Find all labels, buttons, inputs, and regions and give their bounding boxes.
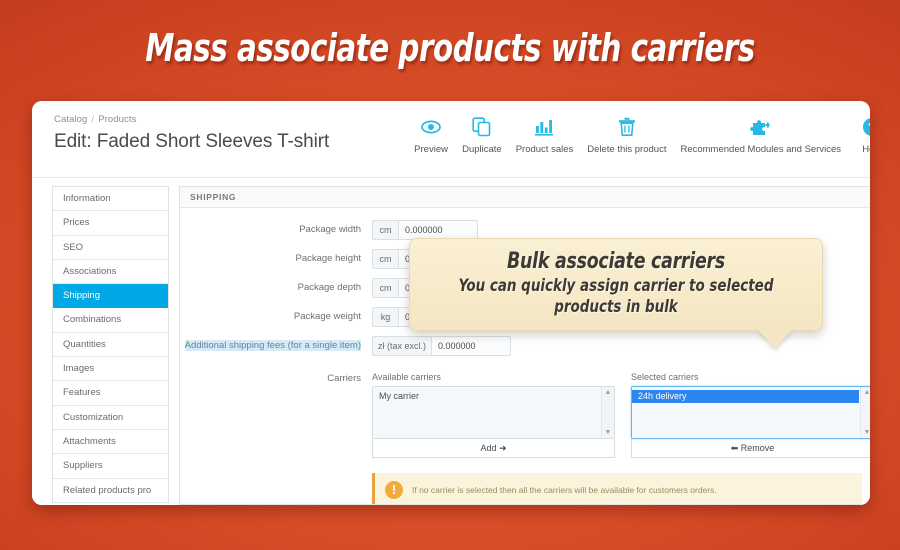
available-carrier-option[interactable]: My carrier (373, 390, 600, 403)
svg-text:?: ? (868, 120, 870, 135)
question-circle-icon: ? (862, 115, 870, 139)
screenshot-stage: Mass associate products with carriers Ca… (0, 0, 900, 550)
sidebar-item-customization[interactable]: Customization (53, 406, 168, 430)
input-package-width[interactable] (398, 220, 478, 240)
sidebar-item-label: Quantities (63, 339, 106, 350)
sidebar-item-quantities[interactable]: Quantities (53, 333, 168, 357)
toolbar-label-preview: Preview (414, 144, 448, 155)
exclamation-circle-icon: ! (385, 481, 403, 499)
toolbar-label-delete-product: Delete this product (587, 144, 666, 155)
form-label-package-width: Package width (180, 220, 372, 236)
sidebar-item-label: Suppliers (63, 460, 103, 471)
callout-tail (758, 330, 792, 348)
bar-chart-icon (534, 115, 554, 139)
available-carriers-listbox[interactable]: My carrier ▲ ▼ (372, 386, 615, 439)
breadcrumb-separator: / (91, 114, 94, 125)
panel-heading: SHIPPING (180, 187, 870, 208)
selected-carriers-column: Selected carriers 24h delivery ▲ ▼ ⬅ Rem… (631, 372, 870, 458)
carriers-row-label: Carriers (180, 372, 372, 458)
sidebar-item-information[interactable]: Information (53, 187, 168, 211)
input-group-package-width: cm (372, 220, 478, 240)
sidebar-item-label: SEO (63, 242, 83, 253)
toolbar-button-recommended-modules[interactable]: Recommended Modules and Services (673, 115, 848, 155)
sidebar-item-combinations[interactable]: Combinations (53, 308, 168, 332)
toolbar-label-product-sales: Product sales (516, 144, 574, 155)
scroll-up-icon[interactable]: ▲ (864, 389, 870, 396)
app-body: InformationPricesSEOAssociationsShipping… (32, 177, 870, 505)
selected-carriers-label: Selected carriers (631, 372, 870, 382)
trash-icon (618, 115, 636, 139)
toolbar-label-duplicate: Duplicate (462, 144, 502, 155)
sidebar-item-label: Associations (63, 266, 116, 277)
sidebar-tab-list: InformationPricesSEOAssociationsShipping… (52, 186, 169, 503)
available-carriers-label: Available carriers (372, 372, 615, 382)
scroll-down-icon[interactable]: ▼ (864, 429, 870, 436)
sidebar-item-label: Prices (63, 217, 89, 228)
duplicate-icon (472, 115, 492, 139)
sidebar-item-label: Combinations (63, 314, 121, 325)
sidebar-item-attachments[interactable]: Attachments (53, 430, 168, 454)
input-additional-shipping-fees-for-a-single-item[interactable] (431, 336, 511, 356)
sidebar-item-label: Customization (63, 412, 123, 423)
carriers-warning-text: If no carrier is selected then all the c… (412, 485, 717, 495)
scroll-up-icon[interactable]: ▲ (605, 389, 612, 396)
sidebar-item-label: Information (63, 193, 111, 204)
header-toolbar: Preview Duplicate Product sales (407, 115, 870, 155)
sidebar-item-images[interactable]: Images (53, 357, 168, 381)
form-label-package-height: Package height (180, 249, 372, 265)
toolbar-button-product-sales[interactable]: Product sales (509, 115, 581, 155)
unit-addon-package-height: cm (372, 249, 398, 269)
selected-carriers-listbox[interactable]: 24h delivery ▲ ▼ (631, 386, 870, 439)
add-carrier-button[interactable]: Add ➜ (372, 439, 615, 458)
feature-callout: Bulk associate carriers You can quickly … (409, 238, 823, 331)
app-header: Catalog/Products Edit: Faded Short Sleev… (32, 101, 870, 177)
available-carriers-column: Available carriers My carrier ▲ ▼ Add ➜ (372, 372, 615, 458)
sidebar-item-label: Related products pro (63, 485, 151, 496)
toolbar-button-help[interactable]: ? Help (848, 115, 870, 155)
sidebar: InformationPricesSEOAssociationsShipping… (32, 178, 169, 505)
toolbar-label-help: Help (862, 144, 870, 155)
sidebar-item-label: Shipping (63, 290, 100, 301)
unit-addon-package-weight: kg (372, 307, 398, 327)
input-group-additional-shipping-fees-for-a-single-item: zł (tax excl.) (372, 336, 511, 356)
sidebar-item-related-products-pro[interactable]: Related products pro (53, 479, 168, 503)
sidebar-item-suppliers[interactable]: Suppliers (53, 454, 168, 478)
unit-addon-package-depth: cm (372, 278, 398, 298)
toolbar-button-delete-product[interactable]: Delete this product (580, 115, 673, 155)
selected-carrier-option[interactable]: 24h delivery (632, 390, 859, 403)
remove-carrier-button[interactable]: ⬅ Remove (631, 439, 870, 458)
unit-addon-package-width: cm (372, 220, 398, 240)
callout-title: Bulk associate carriers (447, 249, 785, 274)
form-label-package-weight: Package weight (180, 307, 372, 323)
form-row-additional-shipping-fees-for-a-single-item: Additional shipping fees (for a single i… (180, 336, 856, 356)
sidebar-item-features[interactable]: Features (53, 381, 168, 405)
toolbar-button-preview[interactable]: Preview (407, 115, 455, 155)
selected-carriers-scrollbar[interactable]: ▲ ▼ (860, 387, 870, 438)
form-label-additional-shipping-fees-for-a-single-item: Additional shipping fees (for a single i… (180, 336, 372, 352)
sidebar-item-shipping[interactable]: Shipping (53, 284, 168, 308)
puzzle-icon (750, 115, 772, 139)
form-label-text: Additional shipping fees (for a single i… (185, 340, 361, 351)
callout-text: You can quickly assign carrier to select… (447, 276, 785, 318)
carriers-row: Carriers Available carriers My carrier ▲… (180, 372, 856, 458)
breadcrumb-root[interactable]: Catalog (54, 114, 87, 125)
sidebar-item-prices[interactable]: Prices (53, 211, 168, 235)
banner-title: Mass associate products with carriers (63, 26, 837, 70)
carriers-columns: Available carriers My carrier ▲ ▼ Add ➜ (372, 372, 870, 458)
scroll-down-icon[interactable]: ▼ (605, 429, 612, 436)
carriers-warning-banner: ! If no carrier is selected then all the… (372, 473, 862, 505)
sidebar-item-seo[interactable]: SEO (53, 236, 168, 260)
unit-addon-additional-shipping-fees-for-a-single-item: zł (tax excl.) (372, 336, 431, 356)
toolbar-label-recommended-modules: Recommended Modules and Services (680, 144, 841, 155)
breadcrumb-current[interactable]: Products (98, 114, 136, 125)
sidebar-item-label: Images (63, 363, 94, 374)
sidebar-item-associations[interactable]: Associations (53, 260, 168, 284)
sidebar-item-label: Attachments (63, 436, 116, 447)
eye-icon (421, 115, 441, 139)
sidebar-item-label: Features (63, 387, 101, 398)
toolbar-button-duplicate[interactable]: Duplicate (455, 115, 509, 155)
form-row-package-width: Package widthcm (180, 220, 856, 240)
available-carriers-scrollbar[interactable]: ▲ ▼ (601, 387, 614, 438)
form-label-package-depth: Package depth (180, 278, 372, 294)
